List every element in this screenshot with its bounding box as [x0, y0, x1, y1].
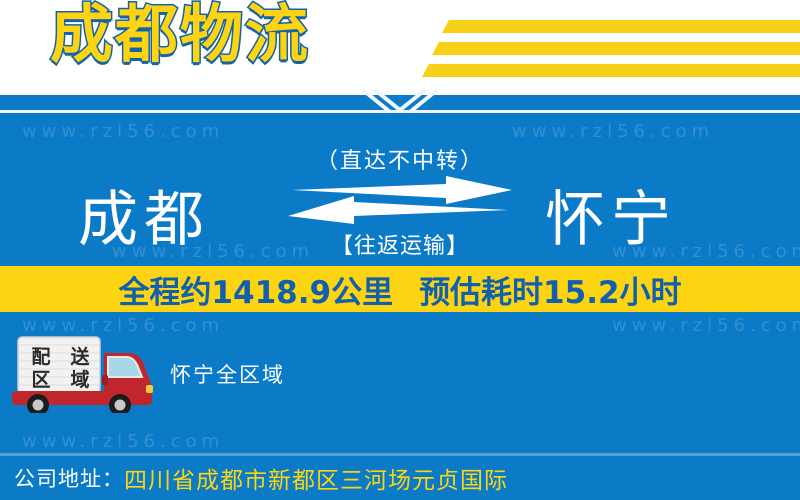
- truck-label-char: 域: [61, 369, 100, 392]
- truck-label-char: 配: [22, 346, 61, 369]
- duration-text: 预估耗时15.2小时: [419, 267, 682, 312]
- banner-header: 成都物流: [0, 0, 800, 95]
- watermark: www.rzl56.com: [22, 315, 224, 336]
- truck-label-char: 送: [61, 346, 100, 369]
- route-info-band: 全程约1418.9公里 预估耗时15.2小时: [0, 266, 800, 312]
- distance-text: 全程约1418.9公里: [118, 267, 393, 312]
- truck-label-char: 区: [22, 369, 61, 392]
- watermark: www.rzl56.com: [22, 431, 224, 452]
- double-arrow-icon: [288, 176, 512, 224]
- decorative-stripe-3: [422, 64, 800, 77]
- watermark: www.rzl56.com: [512, 121, 714, 142]
- double-arrow-svg: [288, 176, 512, 224]
- banner-footer: 公司地址： 四川省成都市新都区三河场元贞国际: [0, 456, 800, 500]
- watermark: www.rzl56.com: [612, 315, 800, 336]
- address-value: 四川省成都市新都区三河场元贞国际: [124, 461, 508, 495]
- coverage-area-text: 怀宁全区域: [170, 359, 285, 389]
- roundtrip-note: 【往返运输】: [0, 228, 800, 260]
- truck-box-label: 配 送 区 域: [22, 345, 100, 393]
- brand-title: 成都物流: [50, 2, 310, 68]
- delivery-coverage-row: 配 送 区 域 怀宁全区域: [0, 335, 800, 415]
- address-label: 公司地址：: [14, 463, 124, 493]
- banner-main: www.rzl56.com www.rzl56.com www.rzl56.co…: [0, 113, 800, 500]
- watermark: www.rzl56.com: [22, 121, 224, 142]
- decorative-stripe-2: [432, 42, 800, 55]
- logistics-banner: 成都物流 www.rzl56.com www.rzl56.com www.rzl…: [0, 0, 800, 500]
- decorative-stripe-1: [442, 20, 800, 33]
